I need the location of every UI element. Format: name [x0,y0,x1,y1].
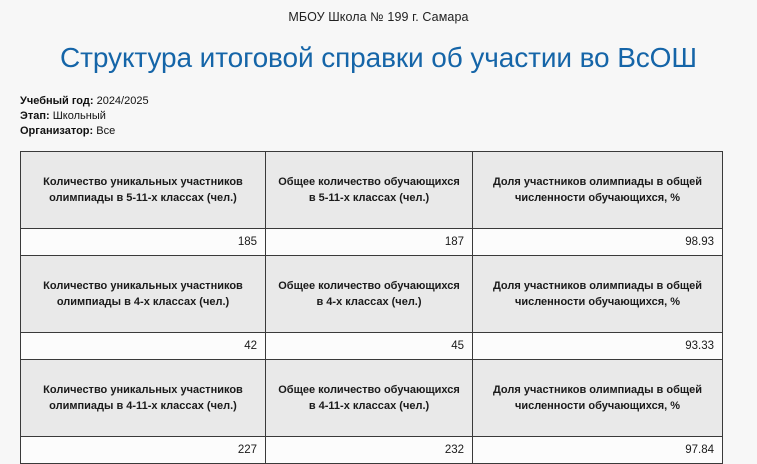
filter-academic-year-value: 2024/2025 [97,95,149,107]
cell-total-students: 45 [266,333,473,360]
filter-academic-year: Учебный год: 2024/2025 [20,94,757,109]
filter-stage-label: Этап: [20,110,50,122]
column-header-total-students: Общее количество обучающихся в 4-11-х кл… [266,360,473,437]
cell-share-percent: 97.84 [473,437,723,464]
filter-stage: Этап: Школьный [20,109,757,124]
filter-organizer-value: Все [96,125,115,137]
page-title: Структура итоговой справки об участии во… [0,42,757,74]
filter-organizer-label: Организатор: [20,125,93,137]
report-page: МБОУ Школа № 199 г. Самара Структура ито… [0,0,757,429]
column-header-unique-participants: Количество уникальных участников олимпиа… [21,256,266,333]
filter-stage-value: Школьный [53,110,106,122]
report-table-container: Количество уникальных участников олимпиа… [20,151,722,464]
cell-unique-participants: 185 [21,229,266,256]
filter-organizer: Организатор: Все [20,124,757,139]
table-header-row: Количество уникальных участников олимпиа… [21,152,723,229]
column-header-unique-participants: Количество уникальных участников олимпиа… [21,360,266,437]
organization-name: МБОУ Школа № 199 г. Самара [0,0,757,24]
filter-academic-year-label: Учебный год: [20,95,94,107]
column-header-unique-participants: Количество уникальных участников олимпиа… [21,152,266,229]
cell-total-students: 187 [266,229,473,256]
report-filters: Учебный год: 2024/2025 Этап: Школьный Ор… [20,94,757,139]
table-row: 42 45 93.33 [21,333,723,360]
cell-share-percent: 93.33 [473,333,723,360]
table-header-row: Количество уникальных участников олимпиа… [21,360,723,437]
report-table: Количество уникальных участников олимпиа… [20,151,723,464]
column-header-share-percent: Доля участников олимпиады в общей числен… [473,152,723,229]
column-header-share-percent: Доля участников олимпиады в общей числен… [473,256,723,333]
column-header-total-students: Общее количество обучающихся в 4-х класс… [266,256,473,333]
column-header-share-percent: Доля участников олимпиады в общей числен… [473,360,723,437]
table-row: 227 232 97.84 [21,437,723,464]
table-row: 185 187 98.93 [21,229,723,256]
table-header-row: Количество уникальных участников олимпиа… [21,256,723,333]
cell-unique-participants: 42 [21,333,266,360]
cell-unique-participants: 227 [21,437,266,464]
column-header-total-students: Общее количество обучающихся в 5-11-х кл… [266,152,473,229]
cell-share-percent: 98.93 [473,229,723,256]
cell-total-students: 232 [266,437,473,464]
